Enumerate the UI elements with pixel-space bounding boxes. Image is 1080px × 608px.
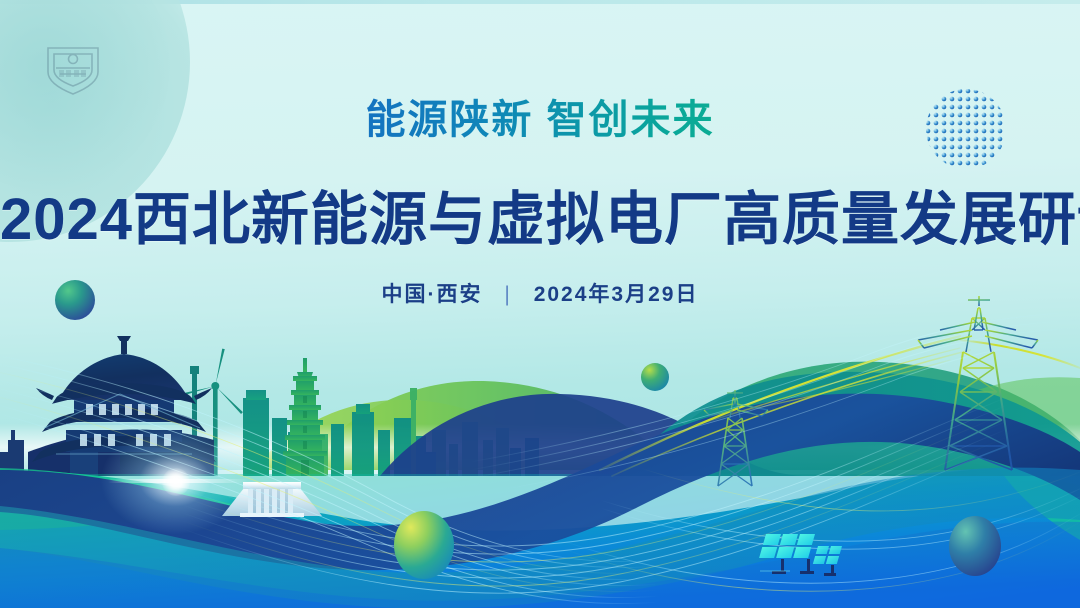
event-tagline: 能源陕新 智创未来 xyxy=(0,96,1080,144)
event-meta: 中国·西安 | 2024年3月29日 xyxy=(0,278,1080,308)
conference-banner: 能源陕新 智创未来 2024西北新能源与虚拟电厂高质量发展研讨会 中国·西安 |… xyxy=(0,0,1080,608)
event-location: 中国·西安 xyxy=(382,283,483,306)
sphere-mid-right xyxy=(641,363,669,391)
meta-separator: | xyxy=(504,283,511,307)
event-date: 2024年3月29日 xyxy=(534,283,699,306)
sphere-large-center xyxy=(394,511,454,579)
sphere-right-low xyxy=(949,516,1001,576)
event-title: 2024西北新能源与虚拟电厂高质量发展研讨会 xyxy=(0,172,1080,256)
light-core xyxy=(162,468,190,496)
